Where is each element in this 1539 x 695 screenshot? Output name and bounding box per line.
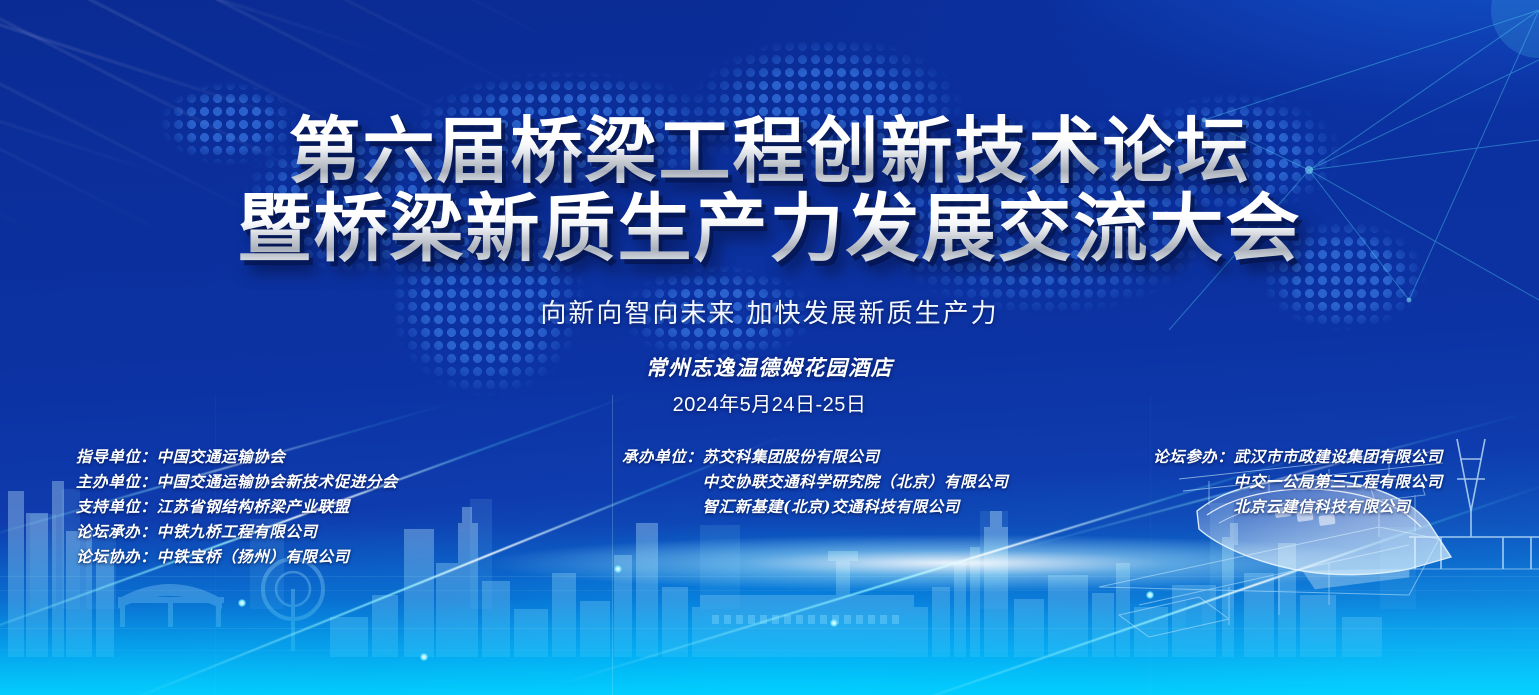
organizer-label: 承办单位： — [622, 444, 703, 469]
main-title: 第六届桥梁工程创新技术论坛 暨桥梁新质生产力发展交流大会 — [0, 112, 1539, 268]
banner-content: 第六届桥梁工程创新技术论坛 暨桥梁新质生产力发展交流大会 向新向智向未来 加快发… — [0, 0, 1539, 695]
organizer-row: 支持单位：江苏省钢结构桥梁产业联盟 — [76, 494, 398, 519]
organizer-value: 中国交通运输协会新技术促进分会 — [157, 469, 399, 494]
organizer-row: 指导单位：中国交通运输协会 — [76, 444, 398, 469]
organizer-row: 承办单位：中交协联交通科学研究院（北京）有限公司 — [622, 469, 1008, 494]
organizer-value: 武汉市市政建设集团有限公司 — [1234, 444, 1443, 469]
title-line-2: 暨桥梁新质生产力发展交流大会 — [0, 190, 1539, 268]
organizer-value: 中交一公局第三工程有限公司 — [1234, 469, 1443, 494]
title-line-1: 第六届桥梁工程创新技术论坛 — [0, 112, 1539, 190]
organizer-row: 承办单位：智汇新基建(北京)交通科技有限公司 — [622, 494, 1008, 519]
organizer-value: 智汇新基建(北京)交通科技有限公司 — [703, 494, 960, 519]
venue-date: 2024年5月24日-25日 — [0, 388, 1539, 417]
conference-banner: 第六届桥梁工程创新技术论坛 暨桥梁新质生产力发展交流大会 向新向智向未来 加快发… — [0, 0, 1539, 695]
organizer-column-center: 承办单位：苏交科集团股份有限公司承办单位：中交协联交通科学研究院（北京）有限公司… — [622, 444, 1008, 519]
organizer-value: 中国交通运输协会 — [157, 444, 286, 469]
organizer-column-right: 论坛参办：武汉市市政建设集团有限公司论坛参办：中交一公局第三工程有限公司论坛参办… — [1153, 444, 1443, 519]
organizer-value: 北京云建信科技有限公司 — [1234, 494, 1411, 519]
organizer-row: 论坛参办：武汉市市政建设集团有限公司 — [1153, 444, 1443, 469]
organizer-row: 论坛参办：中交一公局第三工程有限公司 — [1153, 469, 1443, 494]
organizer-label: 论坛参办： — [1153, 444, 1234, 469]
organizer-row: 论坛协办：中铁宝桥（扬州）有限公司 — [76, 544, 398, 569]
organizer-label: 论坛协办： — [76, 544, 157, 569]
organizer-label: 指导单位： — [76, 444, 157, 469]
organizer-value: 中交协联交通科学研究院（北京）有限公司 — [703, 469, 1009, 494]
organizer-row: 主办单位：中国交通运输协会新技术促进分会 — [76, 469, 398, 494]
organizer-row: 论坛参办：北京云建信科技有限公司 — [1153, 494, 1443, 519]
venue-name: 常州志逸温德姆花园酒店 — [0, 352, 1539, 382]
organizer-value: 江苏省钢结构桥梁产业联盟 — [157, 494, 350, 519]
organizer-row: 承办单位：苏交科集团股份有限公司 — [622, 444, 1008, 469]
organizer-section: 指导单位：中国交通运输协会主办单位：中国交通运输协会新技术促进分会支持单位：江苏… — [0, 444, 1539, 554]
organizer-column-left: 指导单位：中国交通运输协会主办单位：中国交通运输协会新技术促进分会支持单位：江苏… — [76, 444, 398, 569]
organizer-value: 中铁宝桥（扬州）有限公司 — [157, 544, 350, 569]
organizer-row: 论坛承办：中铁九桥工程有限公司 — [76, 519, 398, 544]
organizer-label: 主办单位： — [76, 469, 157, 494]
organizer-label: 支持单位： — [76, 494, 157, 519]
slogan: 向新向智向未来 加快发展新质生产力 — [0, 293, 1539, 330]
organizer-label: 论坛承办： — [76, 519, 157, 544]
organizer-value: 苏交科集团股份有限公司 — [703, 444, 880, 469]
organizer-value: 中铁九桥工程有限公司 — [157, 519, 318, 544]
venue-block: 常州志逸温德姆花园酒店 2024年5月24日-25日 — [0, 352, 1539, 417]
